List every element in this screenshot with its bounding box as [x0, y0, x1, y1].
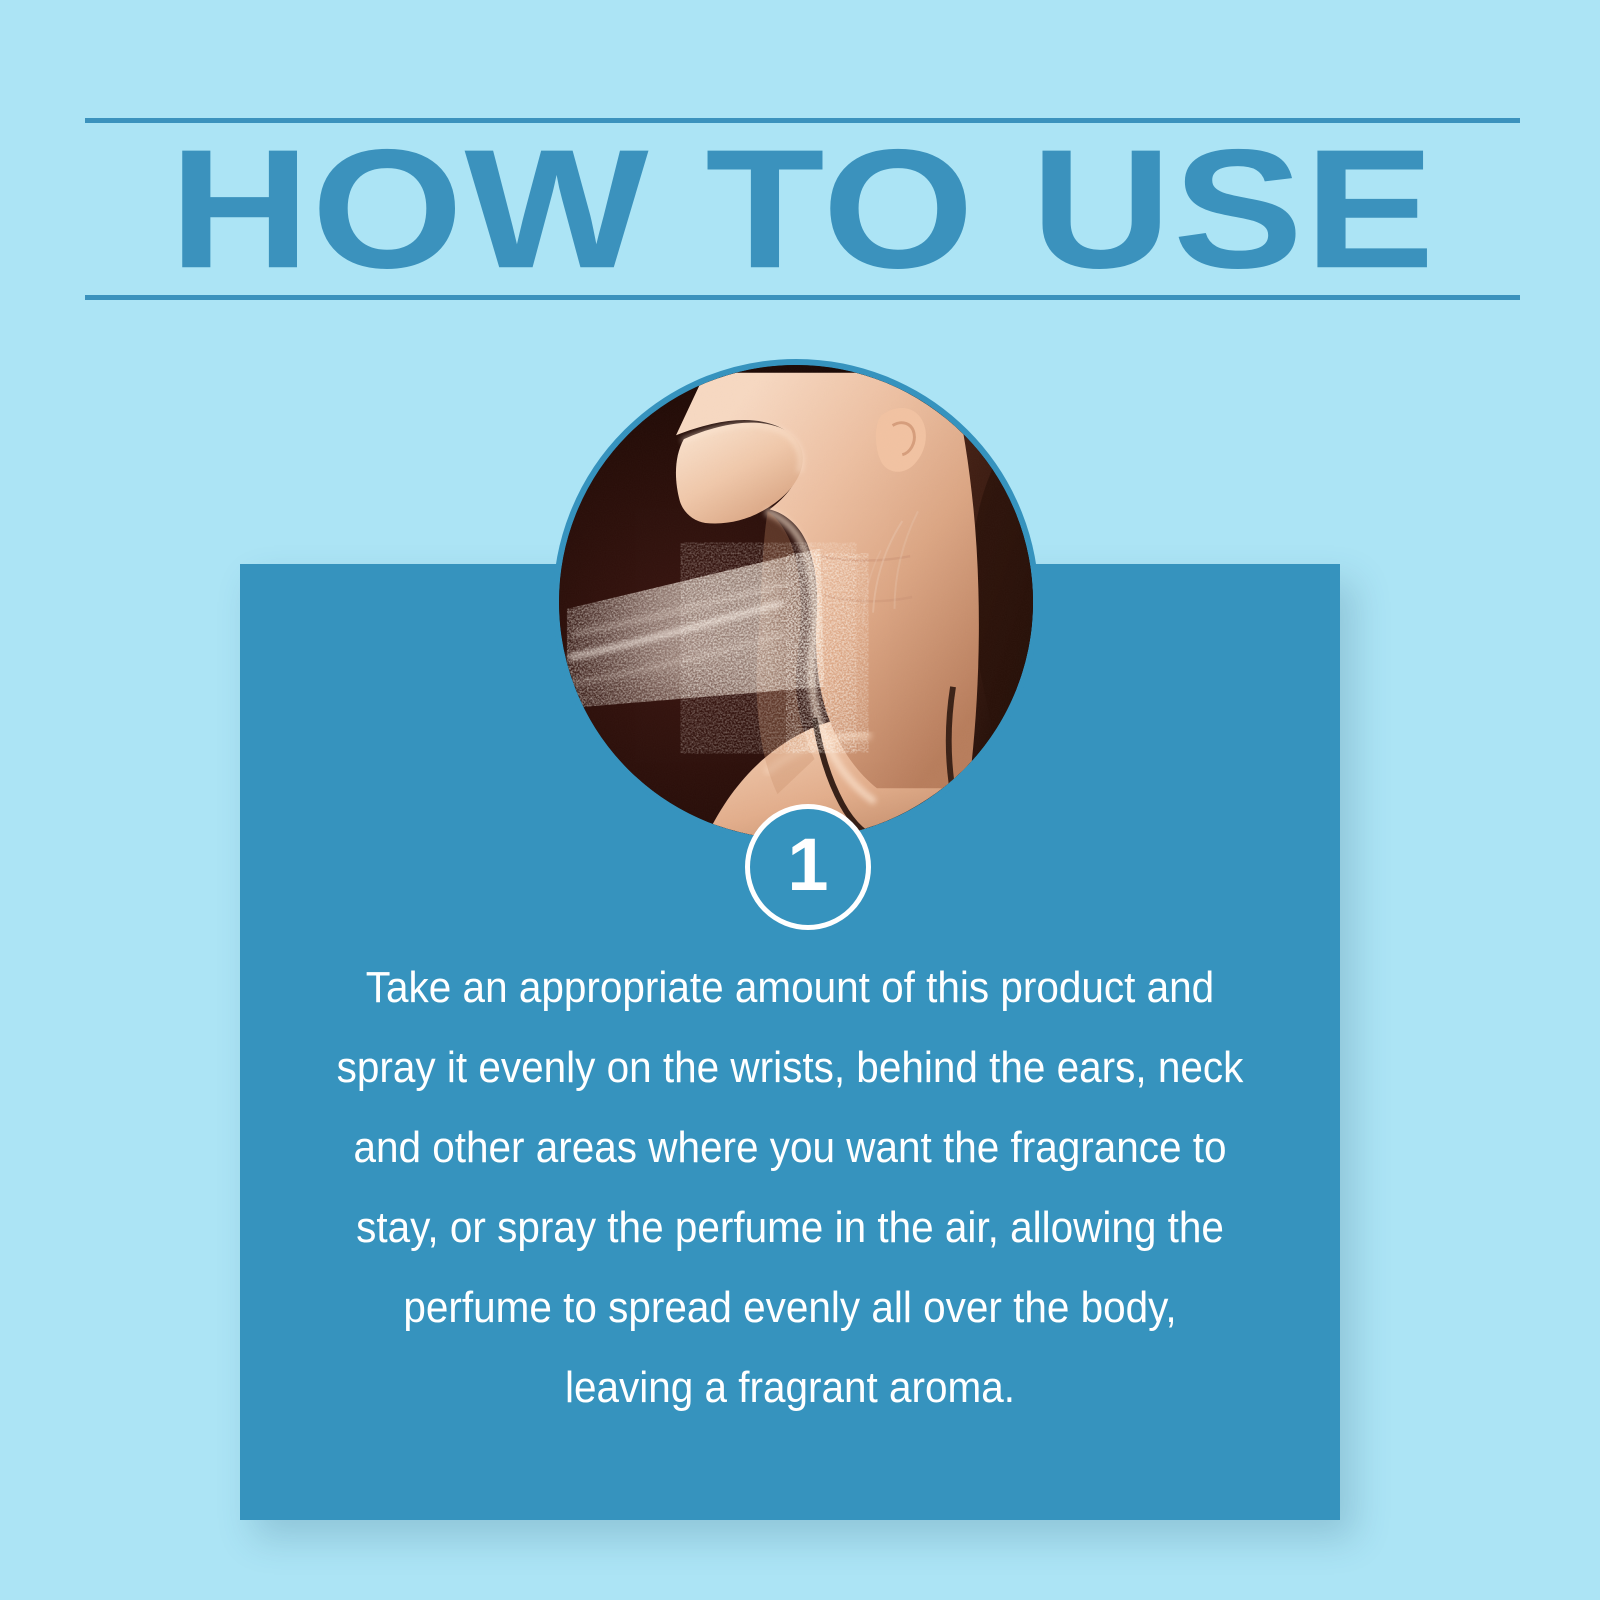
step-description: Take an appropriate amount of this produ… [335, 948, 1246, 1428]
header: HOW TO USE [85, 118, 1520, 300]
step-number: 1 [787, 828, 828, 902]
perfume-spray-photo [559, 365, 1033, 839]
how-to-use-infographic: HOW TO USE [0, 0, 1600, 1600]
step-number-badge: 1 [745, 804, 871, 930]
page-title: HOW TO USE [0, 124, 1600, 294]
step-photo-circle [553, 359, 1039, 845]
header-bottom-rule [85, 295, 1520, 300]
